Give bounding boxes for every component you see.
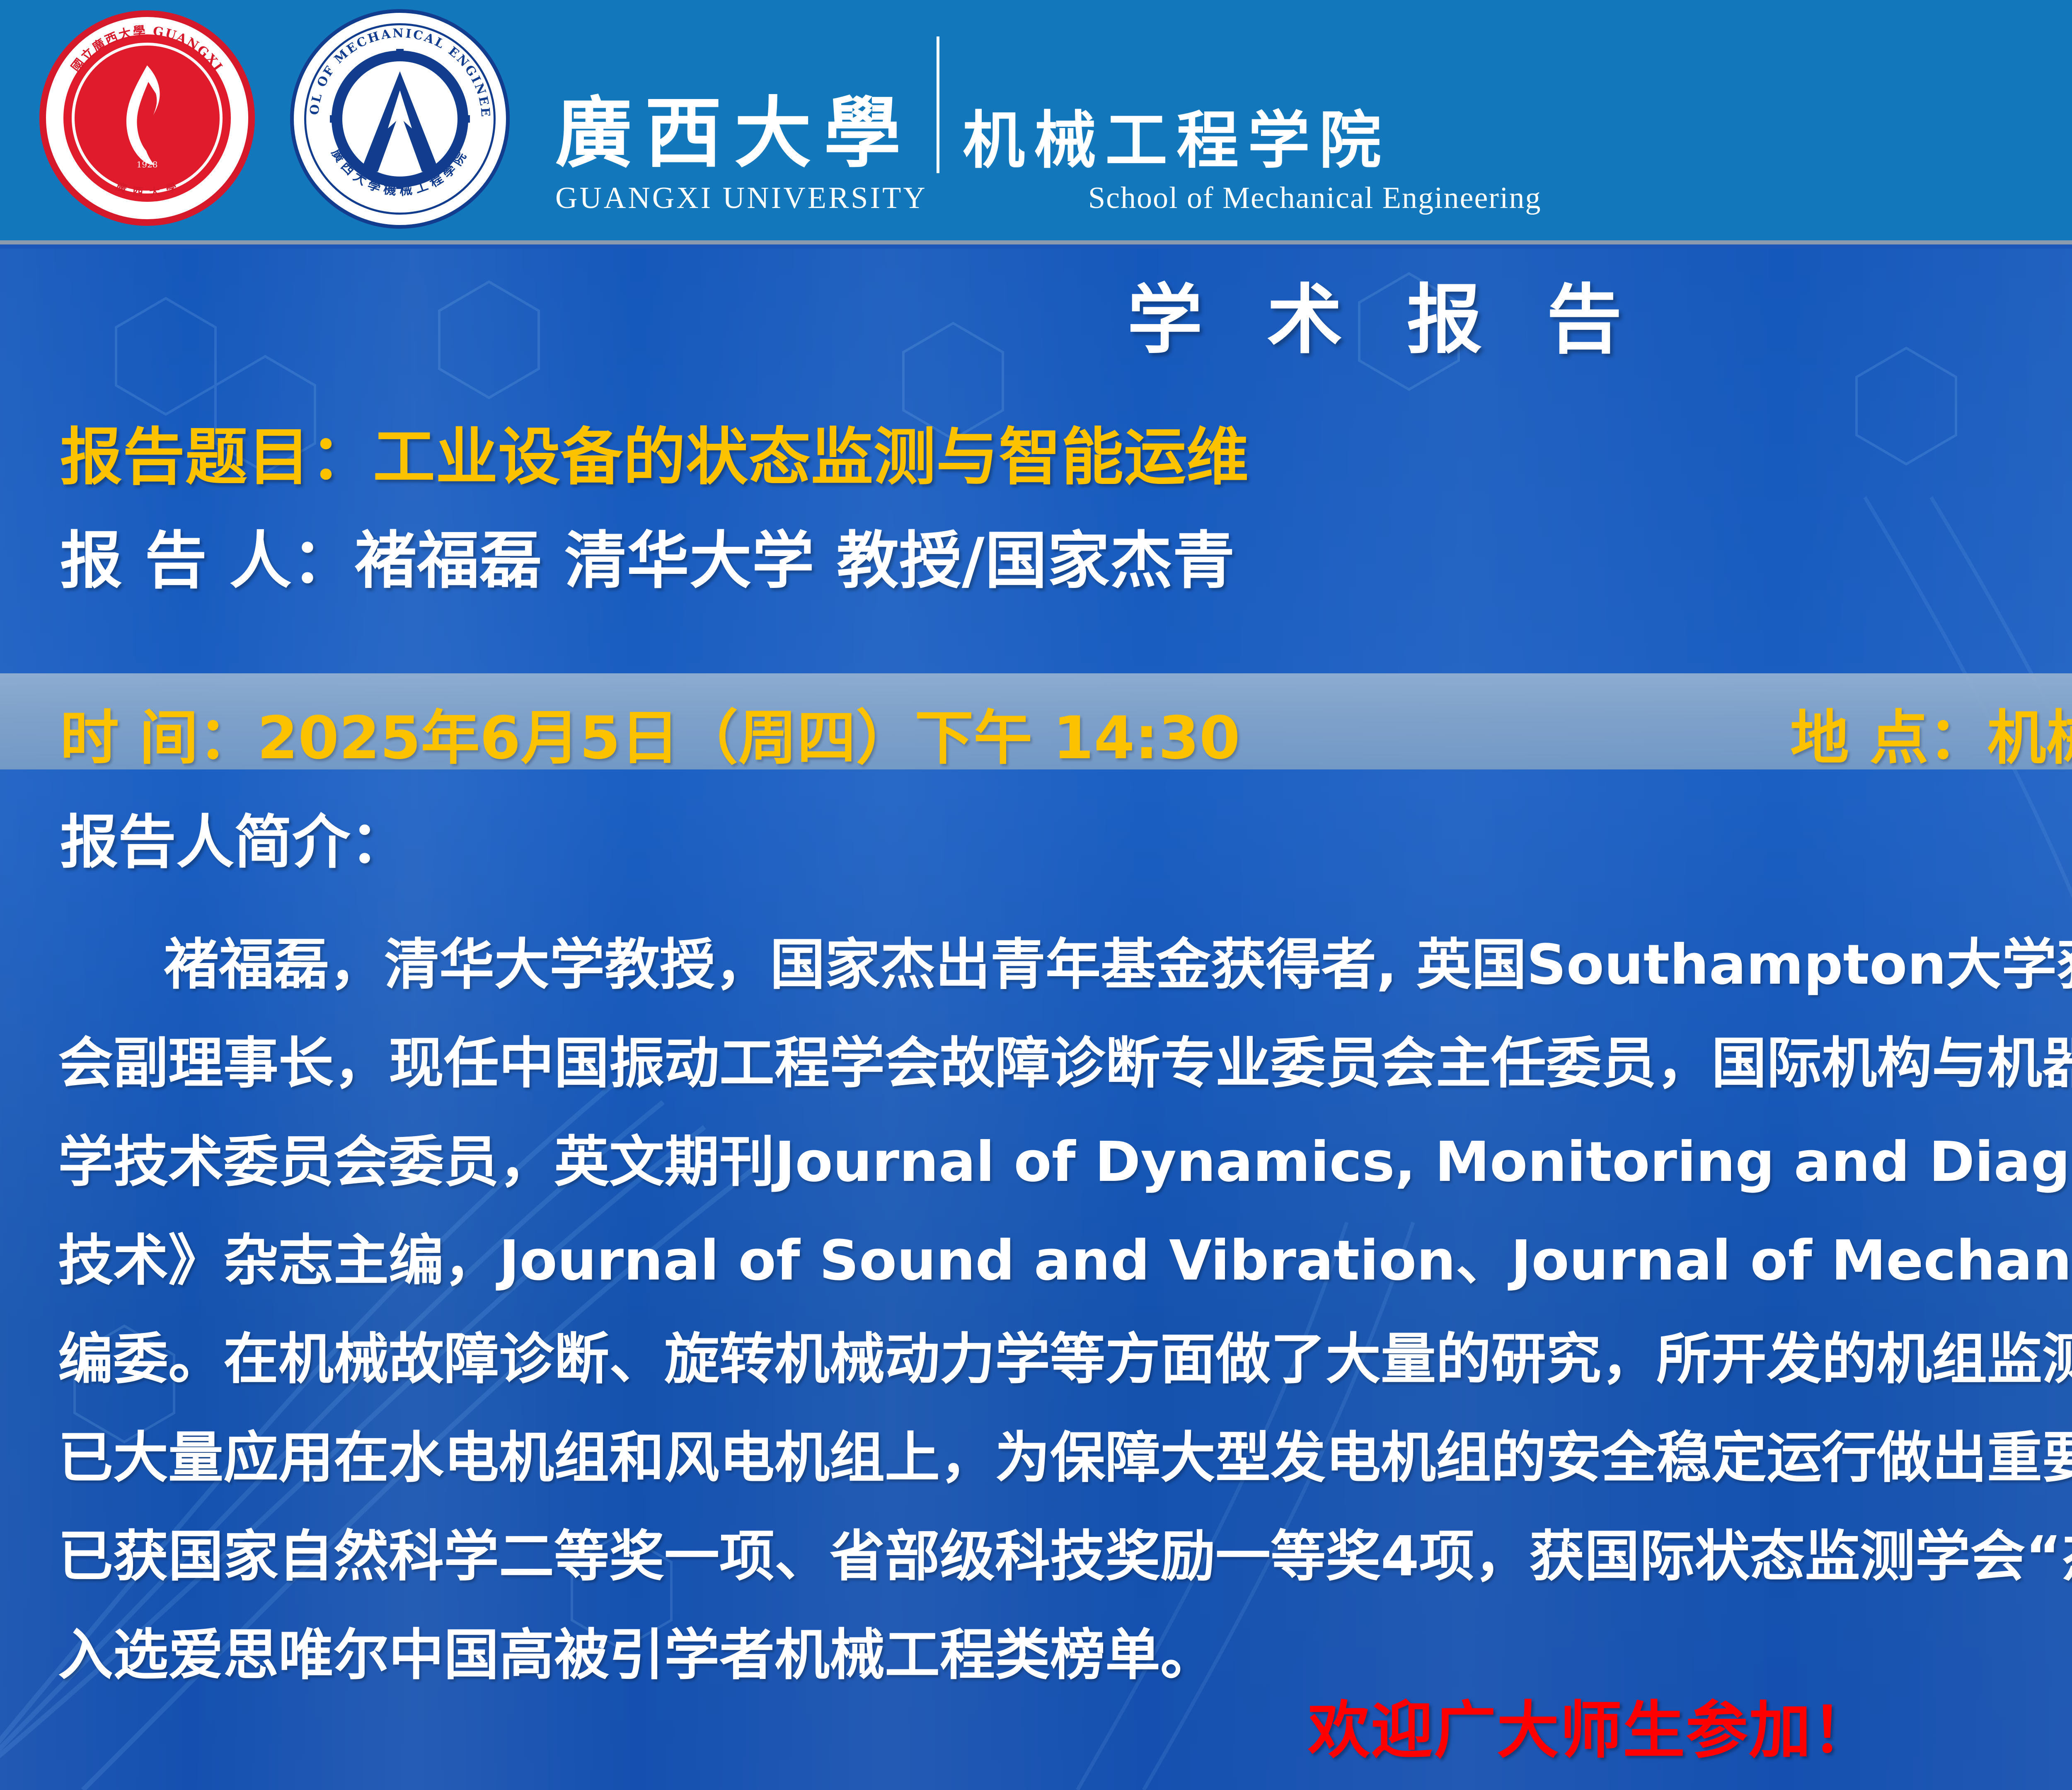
bio-line: 技术》杂志主编，Journal of Sound and Vibration、J… [58,1212,2072,1310]
wordmark-cn-main: 廣西大學 [555,92,913,173]
school-of-mechanical-engineering-seal-icon: SCHOOL OF MECHANICAL ENGINEERING 廣西大學機械工… [290,9,510,229]
academic-lecture-poster: 國立廣西大學 GUANGXI 廣 西 大 學 1928 [0,0,2072,1790]
bio-body: 褚福磊，清华大学教授，国家杰出青年基金获得者, 英国Southampton大学获… [58,916,2072,1705]
wordmark-en-sub: School of Mechanical Engineering [1053,181,1542,216]
bio-line: 会副理事长，现任中国振动工程学会故障诊断专业委员会主任委员，国际机构与机器科学联… [58,1014,2072,1113]
bio-line: 褚福磊，清华大学教授，国家杰出青年基金获得者, 英国Southampton大学获… [58,916,2072,1014]
time-label: 时 间： [60,704,257,772]
speaker-line: 报 告 人：褚福磊 清华大学 教授/国家杰青 [60,510,1235,600]
bio-line: 已获国家自然科学二等奖一项、省部级科技奖励一等奖4项，获国际状态监测学会“杰出贡… [58,1507,2072,1606]
time-line: 时 间：2025年6月5日（周四）下午 14:30 [60,690,1240,775]
svg-text:1928: 1928 [137,160,158,169]
topic-value: 工业设备的状态监测与智能运维 [373,421,1249,493]
svg-text:廣 西 大 學: 廣 西 大 學 [114,180,180,199]
topic-label: 报告题目： [60,421,373,493]
speaker-value: 褚福磊 清华大学 教授/国家杰青 [354,525,1235,597]
wordmark-en-main: GUANGXI UNIVERSITY [555,181,1053,216]
place-line: 地 点：机械楼二阶报告厅 [1790,690,2072,775]
wordmark: 廣西大學 机械工程学院 GUANGXI UNIVERSITY School of… [555,25,1542,216]
bio-line: 编委。在机械故障诊断、旋转机械动力学等方面做了大量的研究，所开发的机组监测诊断和… [58,1310,2072,1409]
time-value: 2025年6月5日（周四）下午 14:30 [257,704,1240,772]
sme-seal-art-icon: SCHOOL OF MECHANICAL ENGINEERING 廣西大學機械工… [290,9,510,229]
wordmark-divider [937,36,939,173]
bio-heading: 报告人简介： [60,796,408,879]
place-label: 地 点： [1790,704,1987,772]
bio-line: 学技术委员会委员，英文期刊Journal of Dynamics, Monito… [58,1113,2072,1212]
bio-line: 已大量应用在水电机组和风电机组上，为保障大型发电机组的安全稳定运行做出重要贡献。… [58,1409,2072,1507]
topic-line: 报告题目：工业设备的状态监测与智能运维 [60,407,1249,497]
guangxi-university-seal-icon: 國立廣西大學 GUANGXI 廣 西 大 學 1928 [39,10,255,226]
wordmark-cn-sub: 机械工程学院 [963,108,1390,174]
header-band: 國立廣西大學 GUANGXI 廣 西 大 學 1928 [0,0,2072,244]
speaker-label: 报 告 人： [60,525,354,597]
svg-text:1933: 1933 [388,161,411,172]
welcome-call-to-action: 欢迎广大师生参加！ [0,1680,2072,1770]
place-value: 机械楼二阶报告厅 [1987,704,2072,772]
page-title: 学 术 报 告 [0,259,2072,368]
flame-emblem-icon: 1928 [116,62,178,170]
